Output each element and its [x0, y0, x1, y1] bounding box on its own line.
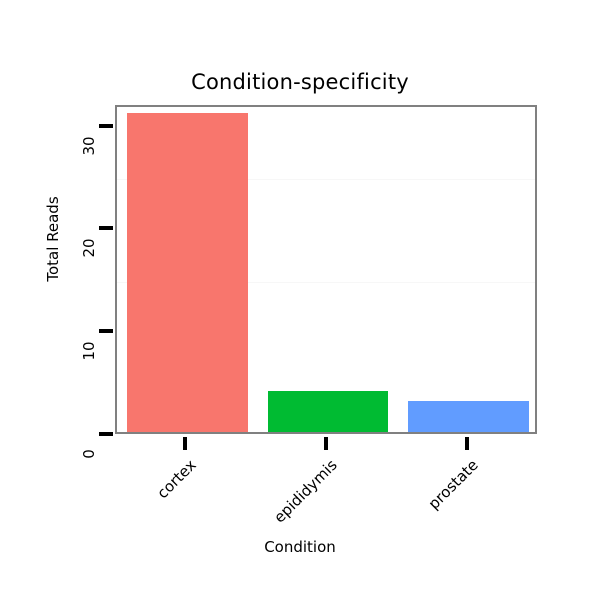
y-axis-title: Total Reads: [44, 179, 62, 299]
y-tick-label: 10: [80, 331, 98, 371]
bar-epididymis[interactable]: [268, 391, 389, 432]
plot-area: [117, 107, 535, 432]
bar-prostate[interactable]: [408, 401, 529, 432]
y-tick-mark: [99, 329, 113, 333]
chart-canvas: Condition-specificity 0102030 Total Read…: [0, 0, 600, 600]
y-tick-label: 20: [80, 228, 98, 268]
chart-title: Condition-specificity: [0, 70, 600, 94]
bar-cortex[interactable]: [127, 113, 248, 432]
y-tick-mark: [99, 124, 113, 128]
plot-panel: [115, 105, 537, 434]
y-tick-label: 0: [80, 434, 98, 474]
x-tick-mark: [465, 437, 469, 450]
y-tick-mark: [99, 226, 113, 230]
y-tick-mark: [99, 432, 113, 436]
x-tick-mark: [324, 437, 328, 450]
y-tick-label: 30: [80, 126, 98, 166]
x-axis-title: Condition: [0, 538, 600, 556]
x-tick-mark: [183, 437, 187, 450]
